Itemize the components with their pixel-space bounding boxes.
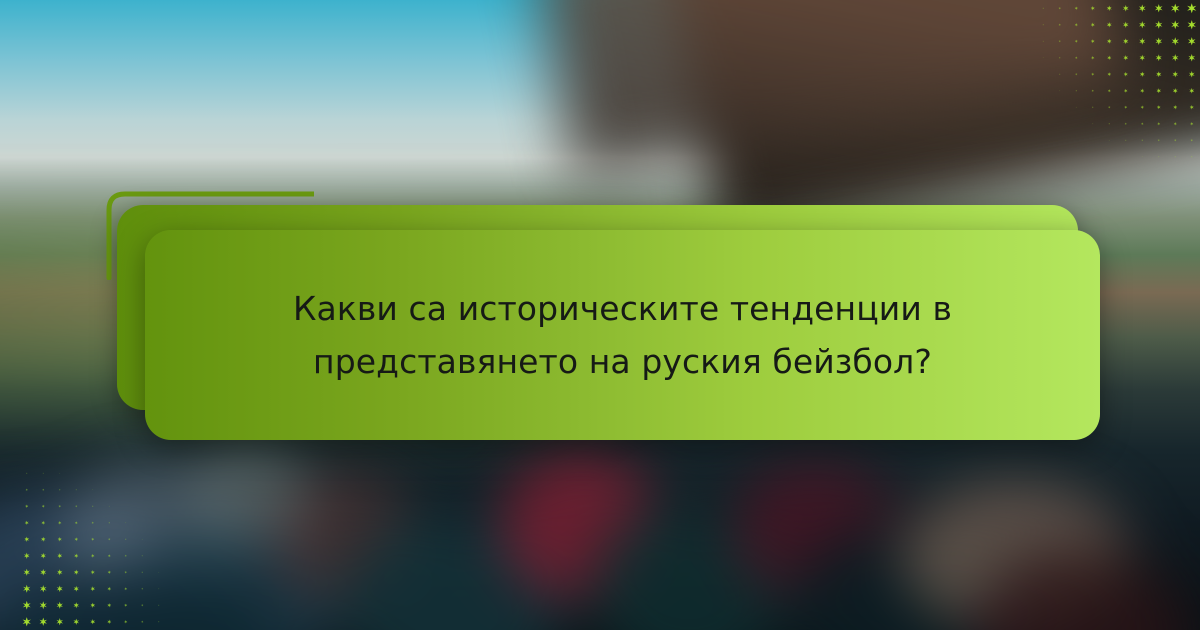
halftone-top-right (1000, 0, 1200, 200)
halftone-bottom-left (0, 430, 200, 630)
question-text: Какви са историческите тенденции в предс… (145, 282, 1100, 389)
share-card-canvas: Какви са историческите тенденции в предс… (0, 0, 1200, 630)
question-card: Какви са историческите тенденции в предс… (145, 230, 1100, 440)
